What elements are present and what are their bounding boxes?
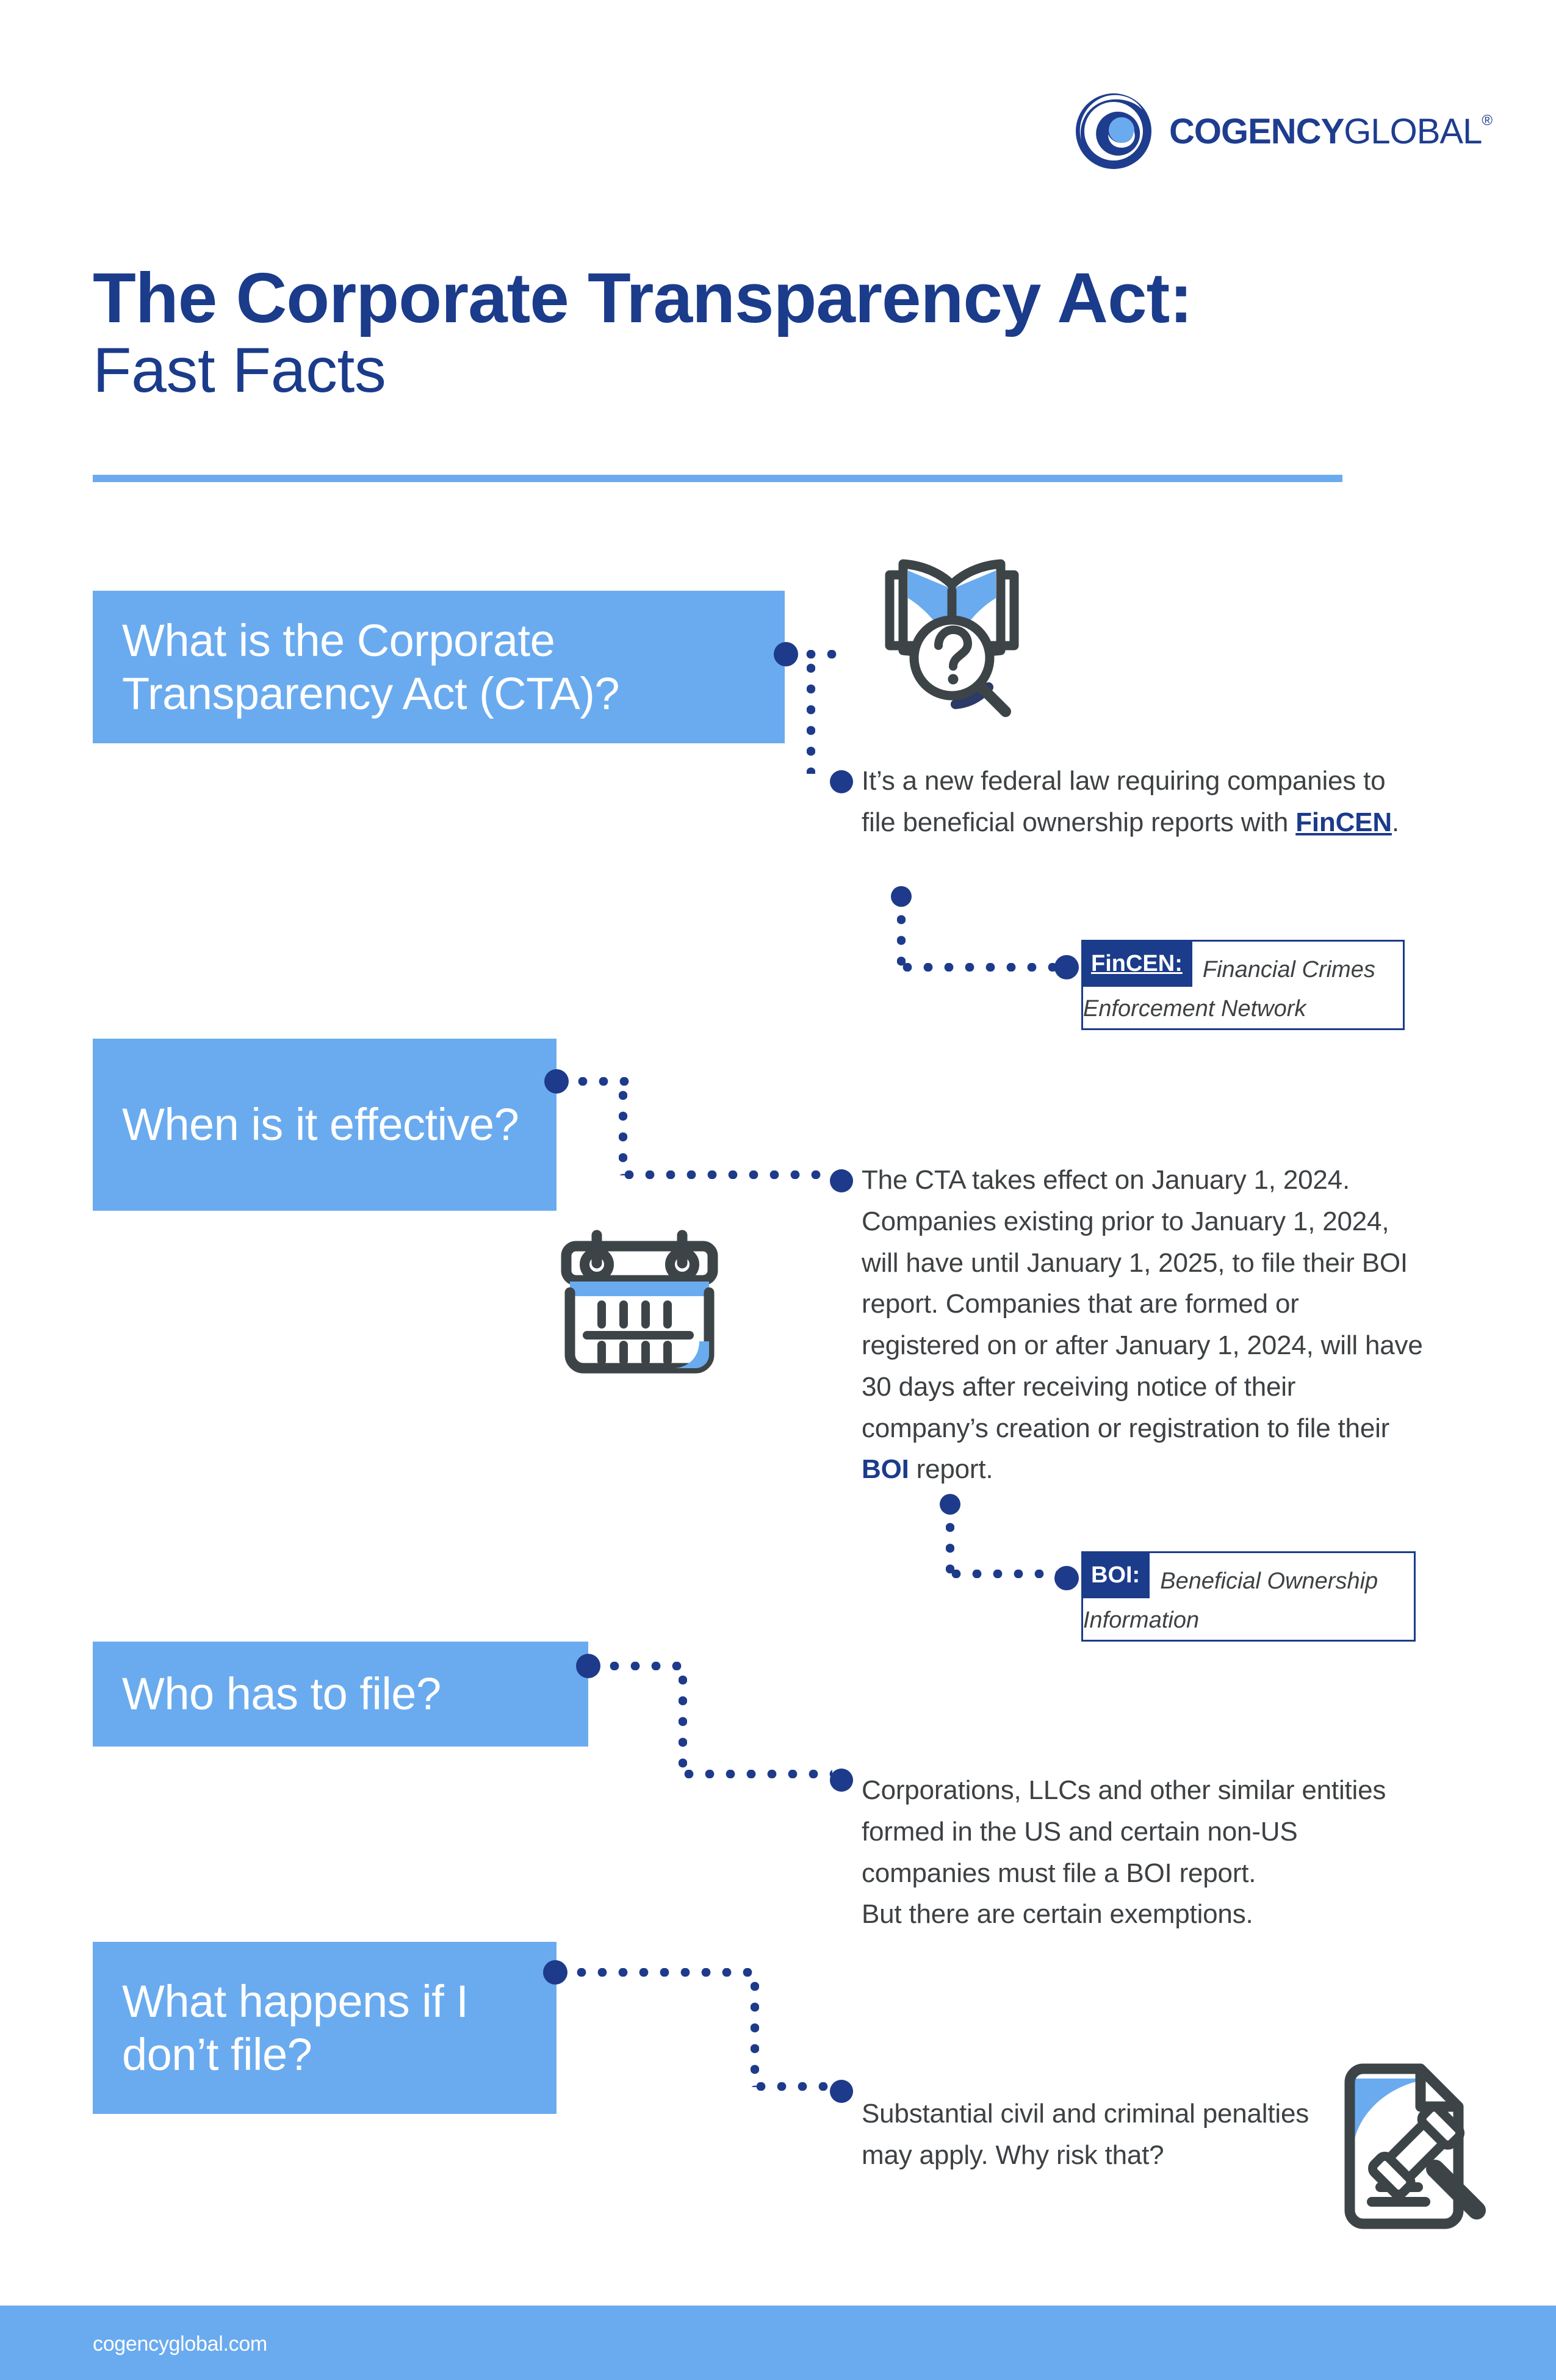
calendar-icon xyxy=(548,1225,731,1378)
tooltip-boi: BOI:Beneficial Ownership Information xyxy=(1081,1551,1416,1642)
registered-mark: ® xyxy=(1482,114,1492,128)
title-line-1: The Corporate Transparency Act: xyxy=(93,262,1374,333)
connector-dots-q3-horizontal-a xyxy=(604,1662,690,1670)
connector-dots-q4-horizontal-b xyxy=(751,2082,832,2091)
document-gavel-icon xyxy=(1328,2058,1499,2235)
connector-dots-q3-horizontal-b xyxy=(679,1770,832,1778)
tooltip-fincen: FinCEN:Financial Crimes Enforcement Netw… xyxy=(1081,940,1405,1030)
answer-text-who-files: Corporations, LLCs and other similar ent… xyxy=(862,1770,1429,1935)
answer-4-line-1: Substantial civil and criminal penalties xyxy=(862,2093,1344,2135)
answer-bullet-2 xyxy=(830,1169,853,1192)
title-divider xyxy=(93,475,1342,482)
question-block-effective-date[interactable]: When is it effective? xyxy=(93,1039,556,1211)
answer-3-line-3: companies must file a BOI report. xyxy=(862,1853,1429,1894)
connector-dots-q1-vertical xyxy=(807,658,815,774)
page-title: The Corporate Transparency Act: Fast Fac… xyxy=(93,262,1374,408)
question-label-4: What happens if I don’t file? xyxy=(122,1975,527,2082)
brand-name-light: GLOBAL xyxy=(1344,111,1482,152)
answer-1-part-3: . xyxy=(1392,807,1399,837)
tooltip-boi-body: BOI:Beneficial Ownership Information xyxy=(1083,1553,1414,1647)
connector-node-q4 xyxy=(543,1960,567,1985)
answer-bullet-1 xyxy=(830,770,853,793)
answer-2-before: The CTA takes effect on January 1, 2024.… xyxy=(862,1165,1423,1443)
connector-dots-fincen-horizontal xyxy=(897,963,1057,972)
fincen-link[interactable]: FinCEN xyxy=(1295,807,1392,837)
answer-text-effective-date: The CTA takes effect on January 1, 2024.… xyxy=(862,1159,1423,1490)
connector-dots-q2-vertical xyxy=(619,1085,627,1175)
boi-abbrev: BOI xyxy=(862,1454,909,1484)
title-line-2: Fast Facts xyxy=(93,333,1374,408)
brand-wordmark: COGENCYGLOBAL® xyxy=(1169,111,1492,152)
connector-endnode-boi xyxy=(1054,1566,1079,1590)
tooltip-fincen-tag: FinCEN: xyxy=(1081,942,1192,987)
connector-dots-q4-horizontal-a xyxy=(571,1968,758,1977)
question-label-2: When is it effective? xyxy=(122,1098,519,1151)
footer-bar: cogencyglobal.com xyxy=(0,2306,1556,2380)
connector-dots-q4-vertical xyxy=(751,1976,759,2087)
answer-text-cta-definition: It’s a new federal law requiring compani… xyxy=(862,760,1411,843)
book-question-magnifier-icon xyxy=(860,537,1043,726)
connector-dots-q1-horizontal xyxy=(801,650,841,658)
connector-node-fincen xyxy=(891,886,912,907)
tooltip-boi-tag: BOI: xyxy=(1081,1553,1150,1598)
question-label-3: Who has to file? xyxy=(122,1667,441,1720)
cogency-swirl-icon xyxy=(1074,92,1153,171)
answer-text-penalties: Substantial civil and criminal penalties… xyxy=(862,2093,1344,2176)
connector-dots-q2-horizontal-b xyxy=(619,1170,832,1179)
answer-bullet-4 xyxy=(830,2080,853,2103)
answer-2-after: report. xyxy=(909,1454,993,1484)
connector-dots-q2-horizontal-a xyxy=(572,1077,631,1086)
connector-node-q2 xyxy=(544,1069,569,1094)
connector-dots-fincen-vertical xyxy=(897,909,906,969)
footer-url[interactable]: cogencyglobal.com xyxy=(93,2332,267,2356)
connector-dots-boi-vertical xyxy=(946,1517,954,1576)
answer-3-line-1: Corporations, LLCs and other similar ent… xyxy=(862,1770,1429,1811)
answer-bullet-3 xyxy=(830,1769,853,1792)
connector-dots-boi-horizontal xyxy=(946,1570,1057,1578)
connector-endnode-fincen xyxy=(1054,955,1079,979)
question-block-who-files[interactable]: Who has to file? xyxy=(93,1642,588,1747)
connector-node-q1 xyxy=(774,642,798,666)
answer-3-line-2: formed in the US and certain non-US xyxy=(862,1811,1429,1853)
answer-3-line-4: But there are certain exemptions. xyxy=(862,1894,1429,1935)
connector-node-q3 xyxy=(576,1654,600,1678)
question-label-1: What is the Corporate Transparency Act (… xyxy=(122,614,755,721)
connector-node-boi xyxy=(940,1494,960,1515)
brand-name-bold: COGENCY xyxy=(1169,111,1344,152)
question-block-penalties[interactable]: What happens if I don’t file? xyxy=(93,1942,556,2114)
connector-dots-q3-vertical xyxy=(679,1670,687,1775)
question-block-cta-definition[interactable]: What is the Corporate Transparency Act (… xyxy=(93,591,785,743)
tooltip-fincen-body: FinCEN:Financial Crimes Enforcement Netw… xyxy=(1083,942,1403,1036)
brand-logo: COGENCYGLOBAL® xyxy=(1074,85,1464,177)
infographic-page: COGENCYGLOBAL® The Corporate Transparenc… xyxy=(0,0,1556,2380)
answer-4-line-2: may apply. Why risk that? xyxy=(862,2135,1344,2176)
